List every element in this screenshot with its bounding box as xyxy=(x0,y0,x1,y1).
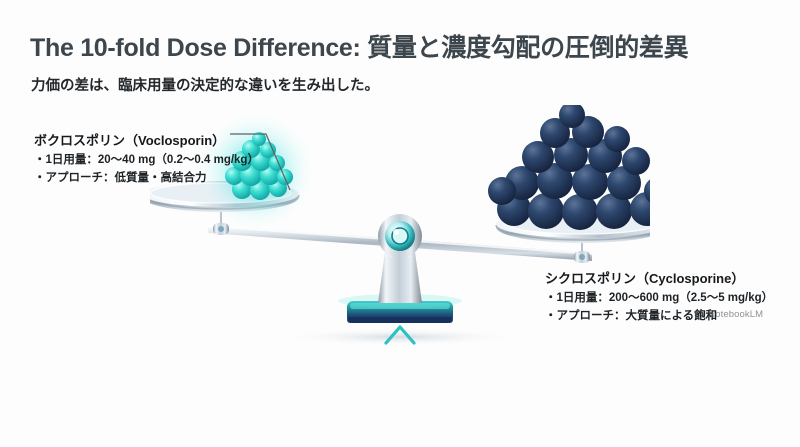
annotation-cyclosporine-heading: シクロスポリン（Cyclosporine） xyxy=(545,268,773,287)
annotation-voclosporin-dose: ・1日用量：20〜40 mg（0.2〜0.4 mg/kg） xyxy=(34,152,259,170)
page-title: The 10-fold Dose Difference: 質量と濃度勾配の圧倒的… xyxy=(30,28,688,64)
leader-line-left xyxy=(228,128,298,208)
annotation-voclosporin: ボクロスポリン（Voclosporin） ・1日用量：20〜40 mg（0.2〜… xyxy=(34,130,259,188)
scale-pivot-hub xyxy=(378,214,422,258)
annotation-voclosporin-heading: ボクロスポリン（Voclosporin） xyxy=(34,130,259,149)
slide-canvas: The 10-fold Dose Difference: 質量と濃度勾配の圧倒的… xyxy=(0,0,800,447)
annotation-cyclosporine: シクロスポリン（Cyclosporine） ・1日用量：200〜600 mg（2… xyxy=(545,268,773,326)
page-subtitle: 力価の差は、臨床用量の決定的な違いを生み出した。 xyxy=(31,74,379,95)
cyclosporine-pile xyxy=(488,105,650,230)
annotation-cyclosporine-dose: ・1日用量：200〜600 mg（2.5〜5 mg/kg） xyxy=(545,290,773,308)
notebooklm-watermark: NotebookLM xyxy=(693,309,763,320)
scale-ground-shadow xyxy=(280,328,520,345)
notebooklm-icon xyxy=(693,309,704,320)
notebooklm-label: NotebookLM xyxy=(708,309,763,320)
annotation-voclosporin-approach: ・アプローチ：低質量・高結合力 xyxy=(34,170,259,188)
